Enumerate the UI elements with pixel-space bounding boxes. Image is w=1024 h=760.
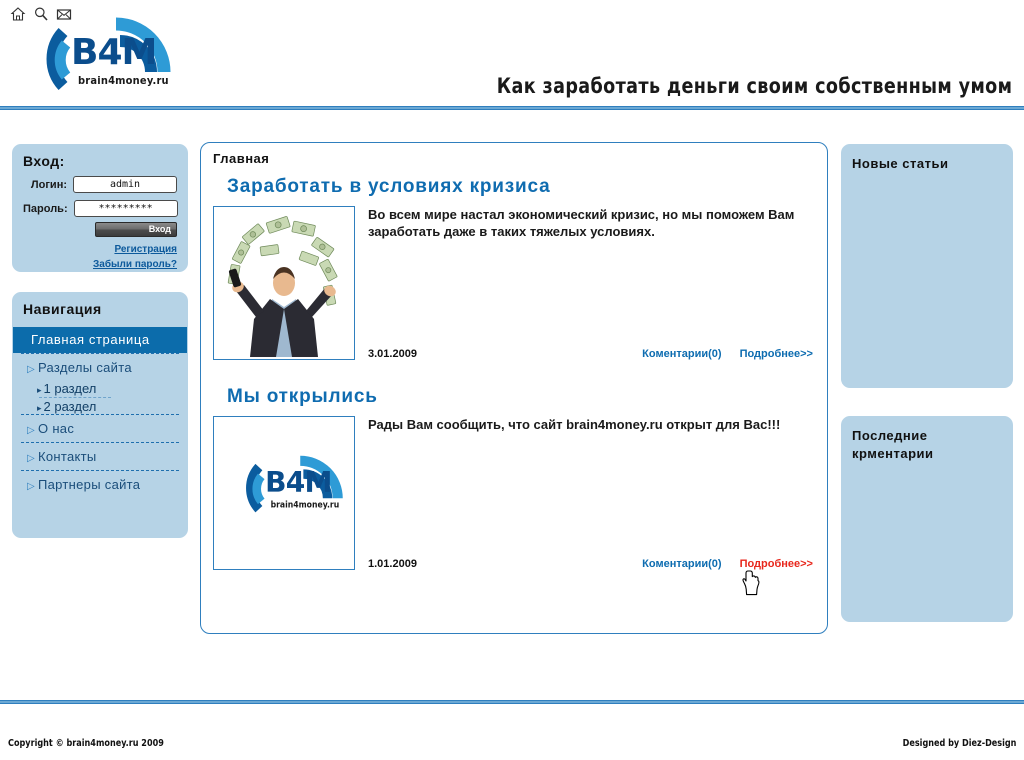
sidebar-subitem-section-1[interactable]: ▸ 1 раздел bbox=[21, 381, 179, 396]
sidebar-item-label: Контакты bbox=[38, 449, 97, 464]
sidebar-item-home[interactable]: Главная страница bbox=[13, 327, 187, 353]
login-username-input[interactable] bbox=[73, 176, 177, 193]
sidebar-item-contacts[interactable]: ▷ Контакты bbox=[21, 443, 179, 470]
triangle-right-icon: ▷ bbox=[27, 481, 35, 492]
article-more-link[interactable]: Подробнее>> bbox=[740, 348, 813, 360]
sidebar-item-sections[interactable]: ▷ Разделы сайта bbox=[21, 354, 179, 381]
login-password-row: Пароль: bbox=[23, 200, 177, 217]
article-body: Во всем мире настал экономический кризис… bbox=[213, 206, 813, 360]
nav-group-sections: ▷ Разделы сайта ▸ 1 раздел ▸ 2 раздел bbox=[21, 353, 179, 414]
article-content: Рады Вам сообщить, что сайт brain4money.… bbox=[355, 416, 813, 570]
footer-designer[interactable]: Designed by Diez-Design bbox=[902, 738, 1016, 749]
sidebar-item-label: О нас bbox=[38, 421, 74, 436]
article-thumbnail-money-man[interactable] bbox=[213, 206, 355, 360]
login-button-row: Вход bbox=[23, 222, 177, 237]
nav-sub-divider bbox=[39, 397, 111, 398]
navigation-panel: Навигация Главная страница ▷ Разделы сай… bbox=[12, 292, 188, 538]
triangle-right-small-icon: ▸ bbox=[37, 385, 42, 396]
article-links: Коментарии(0) Подробнее>> bbox=[642, 558, 813, 570]
article-body: B4M brain4money.ru Рады Вам сообщить, чт… bbox=[213, 416, 813, 570]
login-submit-button[interactable]: Вход bbox=[95, 222, 177, 237]
svg-text:B4M: B4M bbox=[71, 32, 156, 73]
register-link[interactable]: Регистрация bbox=[23, 242, 177, 257]
triangle-right-icon: ▷ bbox=[27, 364, 35, 375]
svg-text:brain4money.ru: brain4money.ru bbox=[271, 501, 340, 511]
login-username-label: Логин: bbox=[23, 179, 73, 191]
sidebar-subitem-section-2[interactable]: ▸ 2 раздел bbox=[21, 399, 179, 414]
article-item: Мы открылись B4M brain4money.ru bbox=[201, 386, 827, 570]
navigation-heading: Навигация bbox=[13, 301, 187, 317]
article-thumbnail-b4m-logo[interactable]: B4M brain4money.ru bbox=[213, 416, 355, 570]
sidebar-subitem-label: 2 раздел bbox=[44, 399, 97, 414]
article-item: Заработать в условиях кризиса bbox=[201, 176, 827, 360]
login-links: Регистрация Забыли пароль? bbox=[23, 242, 177, 272]
article-title[interactable]: Мы открылись bbox=[227, 386, 813, 408]
svg-text:brain4money.ru: brain4money.ru bbox=[78, 74, 169, 87]
article-date: 3.01.2009 bbox=[368, 348, 417, 360]
sidebar-item-label: Разделы сайта bbox=[38, 360, 132, 375]
site-header: B4M brain4money.ru Как заработать деньги… bbox=[0, 0, 1024, 108]
article-links: Коментарии(0) Подробнее>> bbox=[642, 348, 813, 360]
triangle-right-small-icon: ▸ bbox=[37, 403, 42, 414]
nav-group-contacts: ▷ Контакты bbox=[21, 442, 179, 470]
latest-comments-panel: Последние крментарии bbox=[841, 416, 1013, 622]
login-password-input[interactable] bbox=[74, 200, 178, 217]
main-content-panel: Главная Заработать в условиях кризиса bbox=[200, 142, 828, 634]
sidebar-item-label: Партнеры сайта bbox=[38, 477, 140, 492]
article-more-link[interactable]: Подробнее>> bbox=[740, 558, 813, 570]
footer-divider bbox=[0, 700, 1024, 704]
latest-comments-heading: Последние крментарии bbox=[852, 427, 1002, 463]
login-password-label: Пароль: bbox=[23, 203, 74, 215]
nav-group-partners: ▷ Партнеры сайта bbox=[21, 470, 179, 498]
breadcrumb: Главная bbox=[201, 143, 827, 166]
header-divider bbox=[0, 106, 1024, 110]
forgot-password-link[interactable]: Забыли пароль? bbox=[23, 257, 177, 272]
article-title[interactable]: Заработать в условиях кризиса bbox=[227, 176, 813, 198]
svg-text:B4M: B4M bbox=[265, 466, 332, 499]
sidebar-item-about[interactable]: ▷ О нас bbox=[21, 415, 179, 442]
login-heading: Вход: bbox=[23, 153, 177, 169]
sidebar-item-partners[interactable]: ▷ Партнеры сайта bbox=[21, 471, 179, 498]
article-comments-link[interactable]: Коментарии(0) bbox=[642, 348, 721, 360]
new-articles-heading: Новые статьи bbox=[852, 155, 1002, 173]
triangle-right-icon: ▷ bbox=[27, 425, 35, 436]
article-date: 1.01.2009 bbox=[368, 558, 417, 570]
login-panel: Вход: Логин: Пароль: Вход Регистрация За… bbox=[12, 144, 188, 272]
article-text: Во всем мире настал экономический кризис… bbox=[368, 206, 813, 240]
triangle-right-icon: ▷ bbox=[27, 453, 35, 464]
article-content: Во всем мире настал экономический кризис… bbox=[355, 206, 813, 360]
site-logo[interactable]: B4M brain4money.ru bbox=[8, 14, 183, 96]
new-articles-panel: Новые статьи bbox=[841, 144, 1013, 388]
nav-group-about: ▷ О нас bbox=[21, 414, 179, 442]
article-meta: 1.01.2009 Коментарии(0) Подробнее>> bbox=[368, 558, 813, 570]
article-text: Рады Вам сообщить, что сайт brain4money.… bbox=[368, 416, 813, 433]
footer-copyright: Copyright © brain4money.ru 2009 bbox=[8, 738, 164, 749]
article-meta: 3.01.2009 Коментарии(0) Подробнее>> bbox=[368, 348, 813, 360]
sidebar-subitem-label: 1 раздел bbox=[44, 381, 97, 396]
login-username-row: Логин: bbox=[23, 176, 177, 193]
article-comments-link[interactable]: Коментарии(0) bbox=[642, 558, 721, 570]
page-root: B4M brain4money.ru Как заработать деньги… bbox=[0, 0, 1024, 760]
page-title: Как заработать деньги своим собственным … bbox=[496, 74, 1012, 98]
